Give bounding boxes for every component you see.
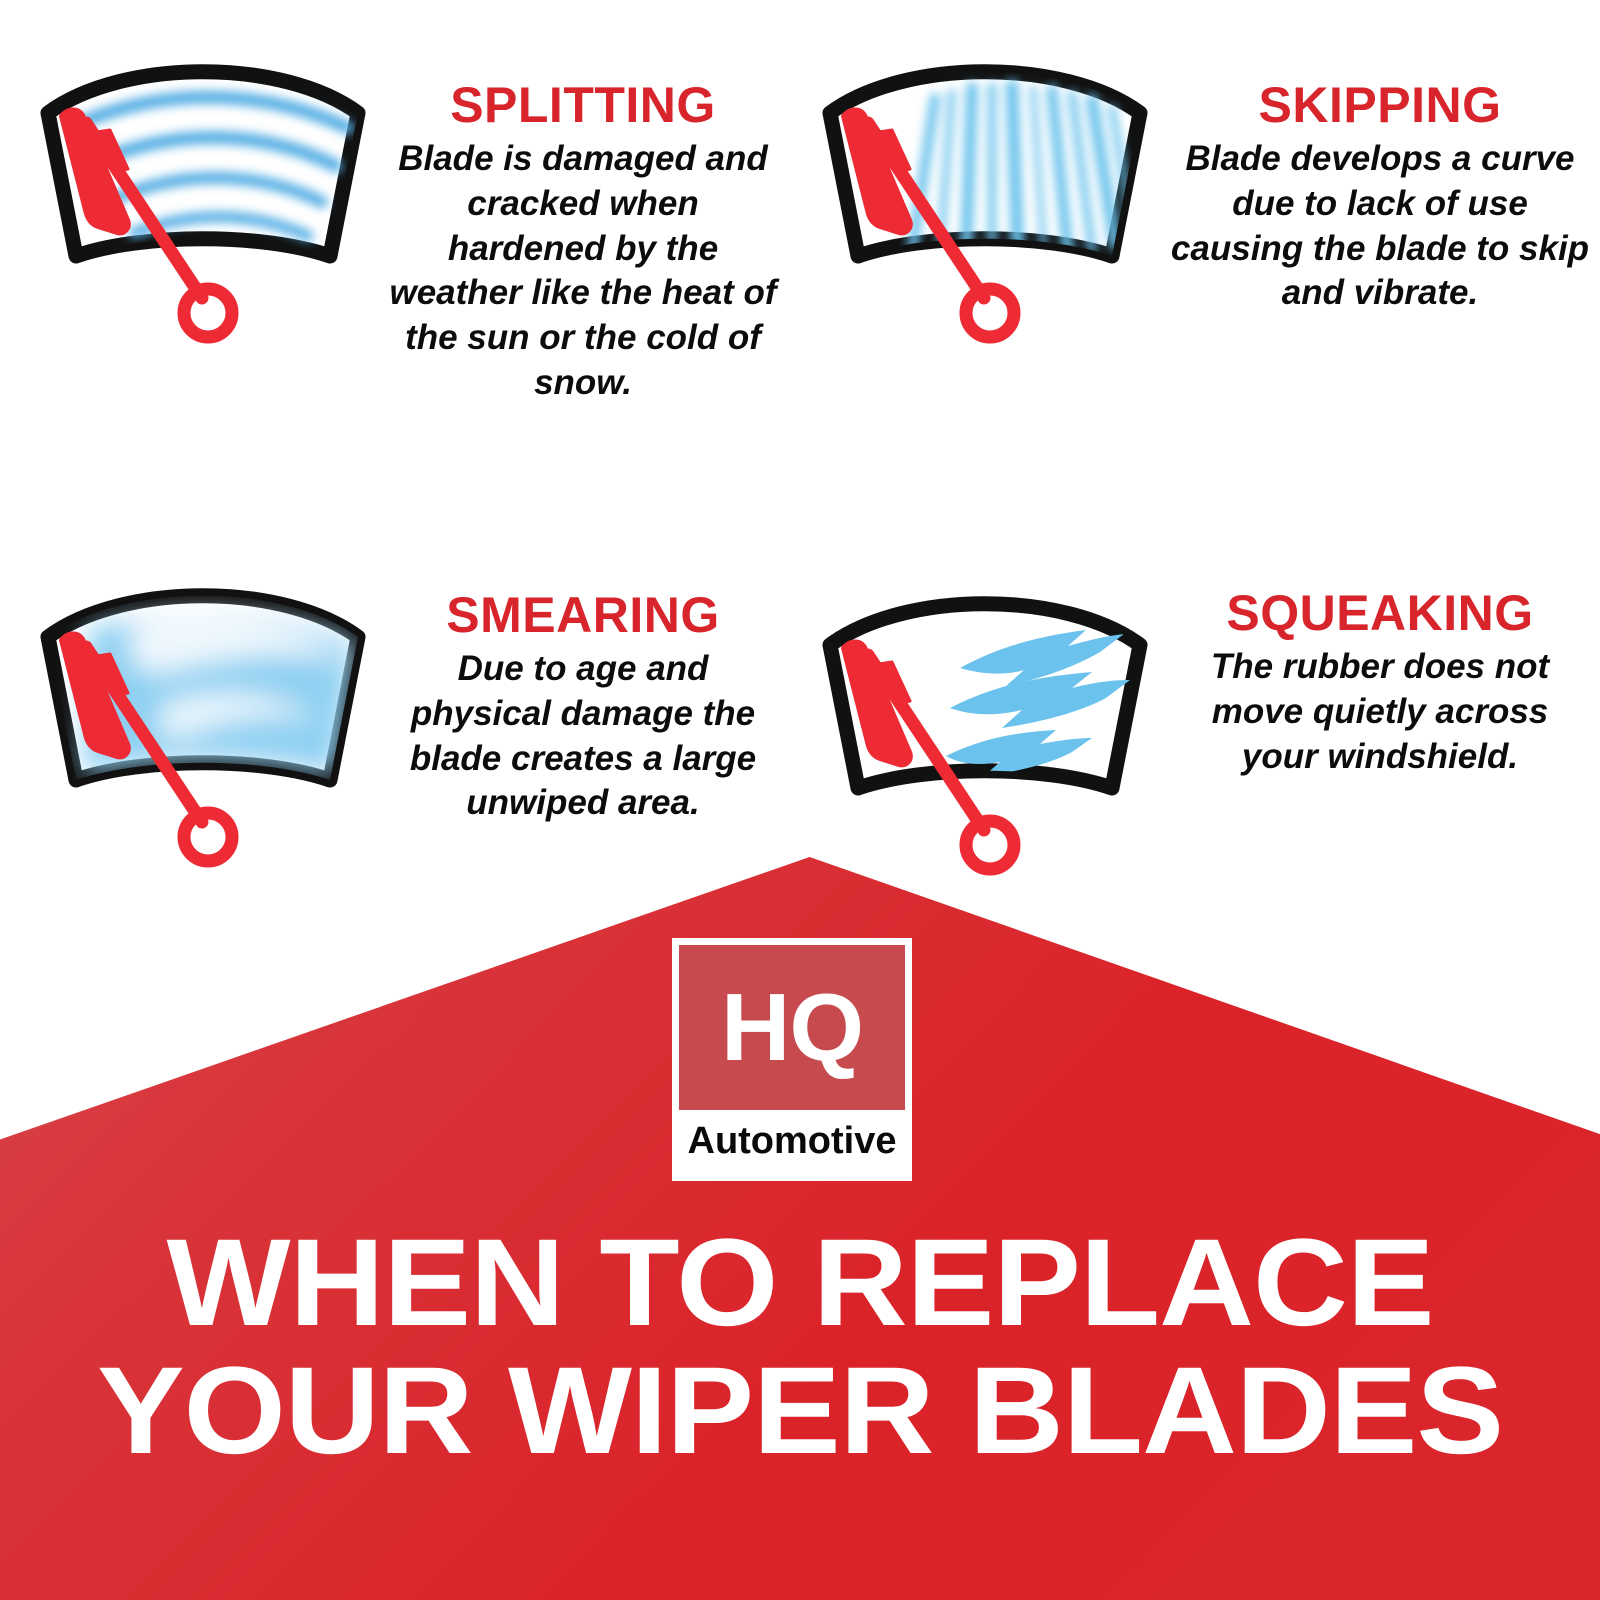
logo-subtitle: Automotive [679, 1110, 905, 1166]
panel-skipping-text: SKIPPING Blade develops a curve due to l… [1170, 28, 1590, 316]
panel-title: SPLITTING [388, 80, 778, 131]
panel-body: Blade develops a curve due to lack of us… [1170, 137, 1590, 316]
panel-body: Blade is damaged and cracked when harden… [388, 137, 778, 406]
logo-mark-text: HQ [721, 980, 863, 1076]
headline-line-2: YOUR WIPER BLADES [0, 1348, 1600, 1476]
panel-skipping: SKIPPING Blade develops a curve due to l… [800, 28, 1590, 358]
logo-mark-square: HQ [679, 945, 905, 1110]
infographic-page: SPLITTING Blade is damaged and cracked w… [0, 0, 1600, 1600]
hq-automotive-logo: HQ Automotive [672, 938, 912, 1181]
panel-title: SQUEAKING [1170, 588, 1590, 639]
panel-body: Due to age and physical damage the blade… [388, 647, 778, 826]
panel-body: The rubber does not move quietly across … [1170, 645, 1590, 779]
panel-title: SMEARING [388, 590, 778, 641]
windshield-wiper-skipping-icon [800, 28, 1170, 358]
headline-line-1: WHEN TO REPLACE [0, 1220, 1600, 1348]
panel-splitting-text: SPLITTING Blade is damaged and cracked w… [388, 28, 778, 406]
banner-headline: WHEN TO REPLACE YOUR WIPER BLADES [0, 1220, 1600, 1475]
panel-splitting: SPLITTING Blade is damaged and cracked w… [18, 28, 778, 406]
windshield-wiper-splitting-icon [18, 28, 388, 358]
panel-smearing-text: SMEARING Due to age and physical damage … [388, 552, 778, 826]
panel-squeaking-text: SQUEAKING The rubber does not move quiet… [1170, 560, 1590, 779]
panel-title: SKIPPING [1170, 80, 1590, 131]
